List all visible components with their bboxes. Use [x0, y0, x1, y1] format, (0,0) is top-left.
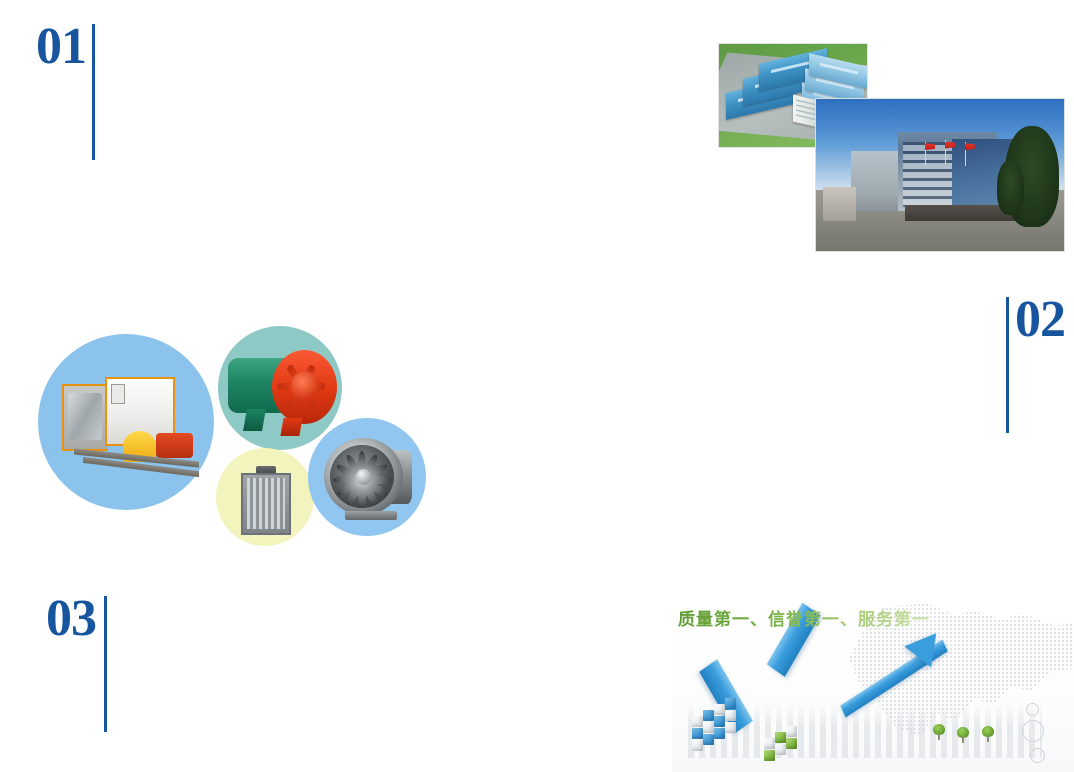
- mixed-flow-fan: [322, 434, 416, 522]
- air-damper-louver: [238, 466, 294, 536]
- mini-tree-trunk-3: [987, 735, 989, 742]
- cube-w4: [725, 710, 736, 721]
- axial-fan-foot-1: [243, 409, 265, 431]
- cabinet-motor: [156, 433, 192, 458]
- gcube-g1: [775, 732, 786, 743]
- section-marker-03: 03: [46, 596, 107, 732]
- axial-fan-hub: [291, 371, 319, 400]
- cube-b3: [692, 728, 703, 739]
- section-marker-02: 02: [1006, 297, 1065, 433]
- photo-tree-mid: [997, 160, 1024, 215]
- section-marker-01: 01: [36, 24, 95, 160]
- axial-fan-foot-2: [280, 418, 302, 436]
- gcube-w3: [775, 744, 786, 755]
- slogan-banner: 质量第一、信誉第一、服务第一: [672, 600, 1074, 772]
- axial-flow-fan: [226, 340, 342, 438]
- bubble-medium: [1030, 748, 1045, 763]
- cube-w3: [703, 722, 714, 733]
- mini-tree-3: [982, 726, 994, 742]
- growth-arrow-graphic: [696, 628, 1002, 762]
- mini-tree-2: [957, 727, 969, 743]
- gcube-g2: [764, 750, 775, 761]
- cube-b6: [714, 728, 725, 739]
- gcube-w2: [786, 726, 797, 737]
- gcube-w1: [764, 738, 775, 749]
- cube-w6: [725, 722, 736, 733]
- cube-b5: [703, 734, 714, 745]
- slogan-text: 质量第一、信誉第一、服务第一: [678, 605, 930, 630]
- cabinet-control-panel: [111, 384, 125, 404]
- cabinet-impeller: [68, 393, 101, 440]
- cube-b4: [714, 716, 725, 727]
- section-rule-02: [1006, 297, 1009, 433]
- office-building-photo: [815, 98, 1065, 252]
- mini-tree-trunk-1: [938, 733, 940, 740]
- section-rule-03: [104, 596, 107, 732]
- mixed-flow-fan-nose-cone: [356, 469, 371, 485]
- section-rule-01: [92, 24, 95, 160]
- cube-w1: [692, 716, 703, 727]
- cube-b2: [725, 698, 736, 709]
- photo-gatehouse: [823, 187, 855, 220]
- gcube-g3: [786, 738, 797, 749]
- cabinet-centrifugal-fan-unit: [56, 368, 208, 480]
- mixed-flow-fan-base: [345, 511, 398, 520]
- cube-w2: [714, 704, 725, 715]
- section-number-02: 02: [1015, 297, 1065, 343]
- product-collage: [30, 318, 430, 548]
- bubble-small: [1026, 703, 1039, 716]
- damper-frame: [241, 473, 290, 535]
- section-number-01: 01: [36, 24, 86, 70]
- mini-tree-trunk-2: [962, 736, 964, 743]
- cube-b1: [703, 710, 714, 721]
- section-number-03: 03: [46, 596, 96, 642]
- bubble-large: [1022, 720, 1044, 742]
- page-root: 01 02 03: [0, 0, 1074, 772]
- cube-w5: [692, 740, 703, 751]
- mini-tree-1: [933, 724, 945, 740]
